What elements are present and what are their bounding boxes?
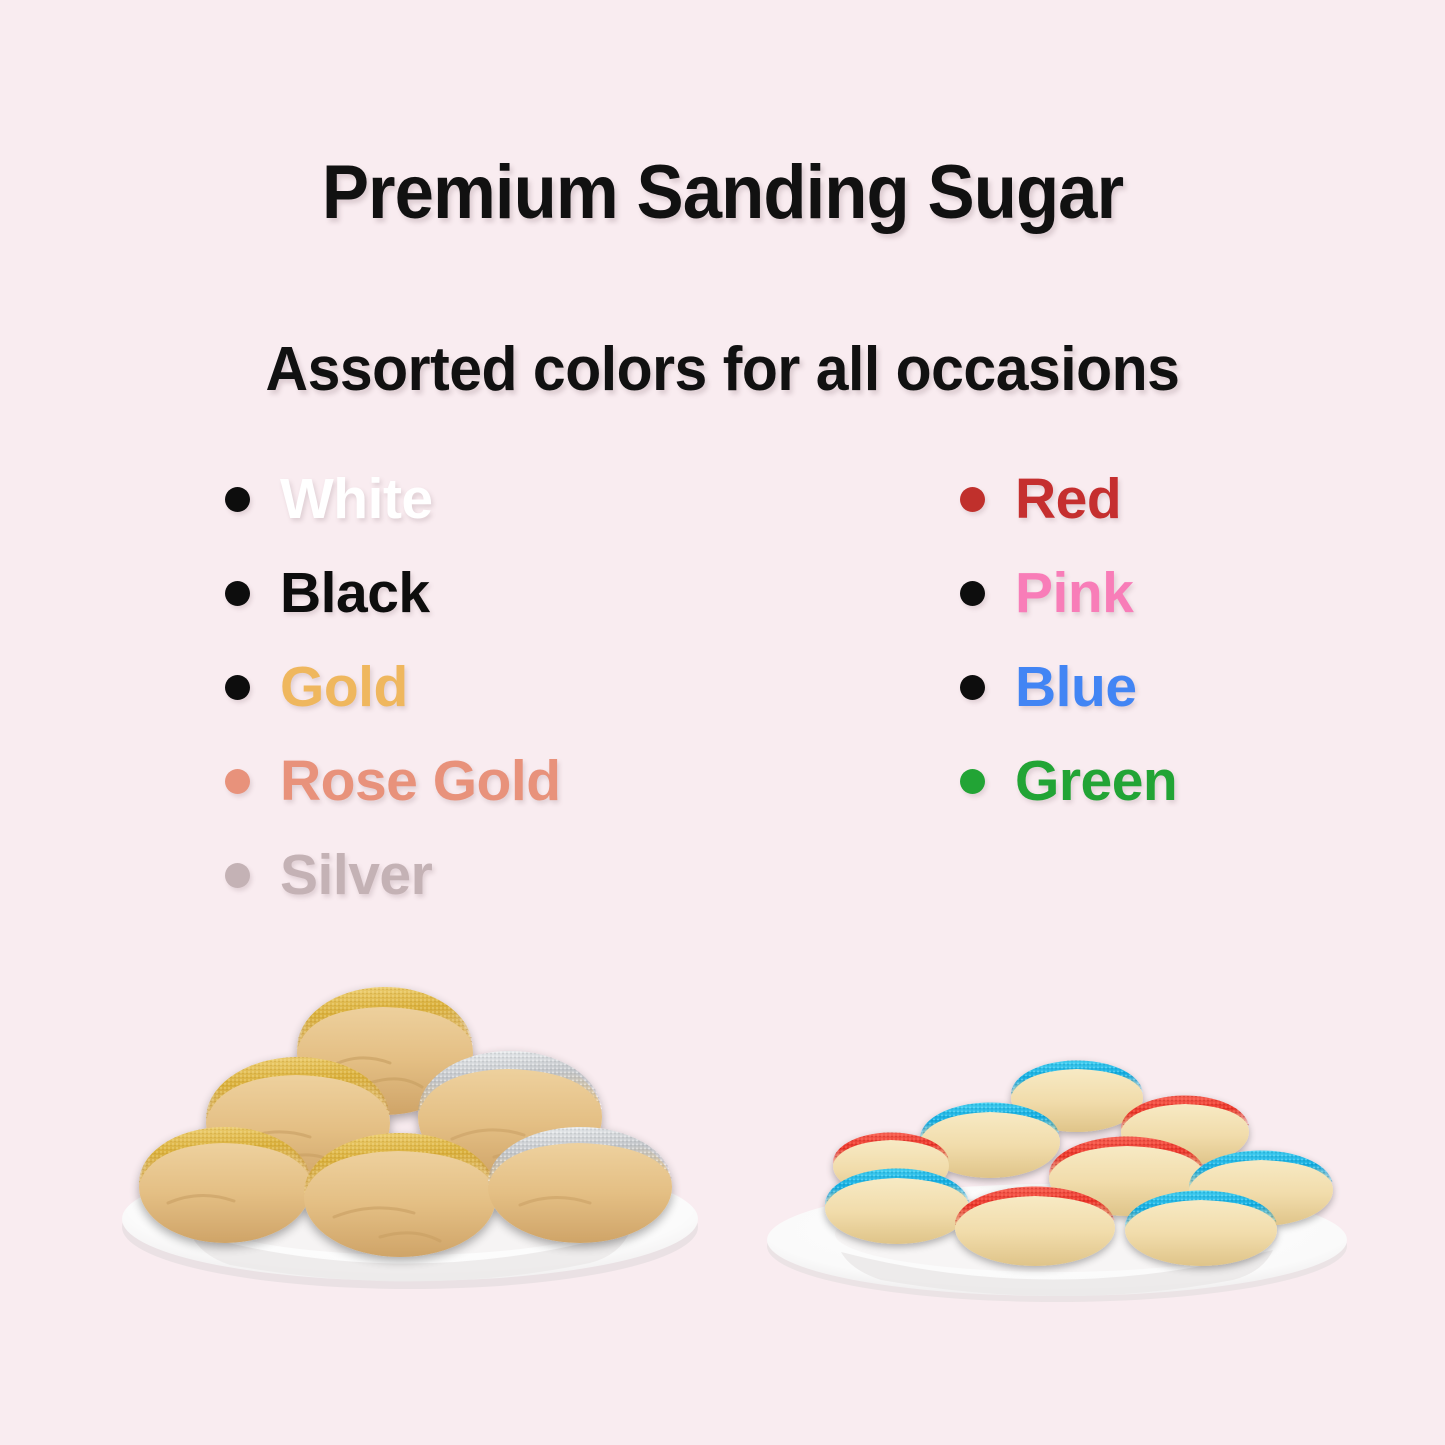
bullet-icon — [225, 769, 250, 794]
bullet-icon — [225, 675, 250, 700]
bullet-icon — [225, 581, 250, 606]
red-and-blue-cookies-illustration — [745, 1050, 1365, 1305]
product-infographic: Premium Sanding Sugar Assorted colors fo… — [0, 0, 1445, 1445]
page-subtitle: Assorted colors for all occasions — [36, 334, 1409, 405]
list-item: Rose Gold — [225, 734, 561, 828]
list-item: Black — [225, 546, 561, 640]
list-item: Silver — [225, 828, 561, 922]
bullet-icon — [960, 581, 985, 606]
color-label: Red — [1015, 471, 1121, 528]
list-item: Gold — [225, 640, 561, 734]
list-item: Green — [960, 734, 1177, 828]
bullet-icon — [960, 769, 985, 794]
color-label: Gold — [280, 659, 408, 716]
gold-and-silver-sugar-cookies-photo — [80, 955, 740, 1300]
color-label: Silver — [280, 847, 432, 904]
page-title: Premium Sanding Sugar — [51, 149, 1395, 236]
bullet-icon — [960, 675, 985, 700]
color-label: Black — [280, 565, 430, 622]
list-item: Red — [960, 452, 1177, 546]
list-item: Blue — [960, 640, 1177, 734]
color-label: White — [280, 471, 433, 528]
color-label: Blue — [1015, 659, 1137, 716]
color-list-right: Red Pink Blue Green — [960, 452, 1177, 828]
bullet-icon — [225, 487, 250, 512]
color-label: Green — [1015, 753, 1177, 810]
color-list-left: White Black Gold Rose Gold Silver — [225, 452, 561, 922]
color-label: Rose Gold — [280, 753, 561, 810]
red-and-blue-sugar-cookies-photo — [745, 1050, 1365, 1305]
bullet-icon — [960, 487, 985, 512]
color-label: Pink — [1015, 565, 1133, 622]
gold-and-silver-cookies-illustration — [80, 955, 740, 1300]
list-item: Pink — [960, 546, 1177, 640]
bullet-icon — [225, 863, 250, 888]
list-item: White — [225, 452, 561, 546]
